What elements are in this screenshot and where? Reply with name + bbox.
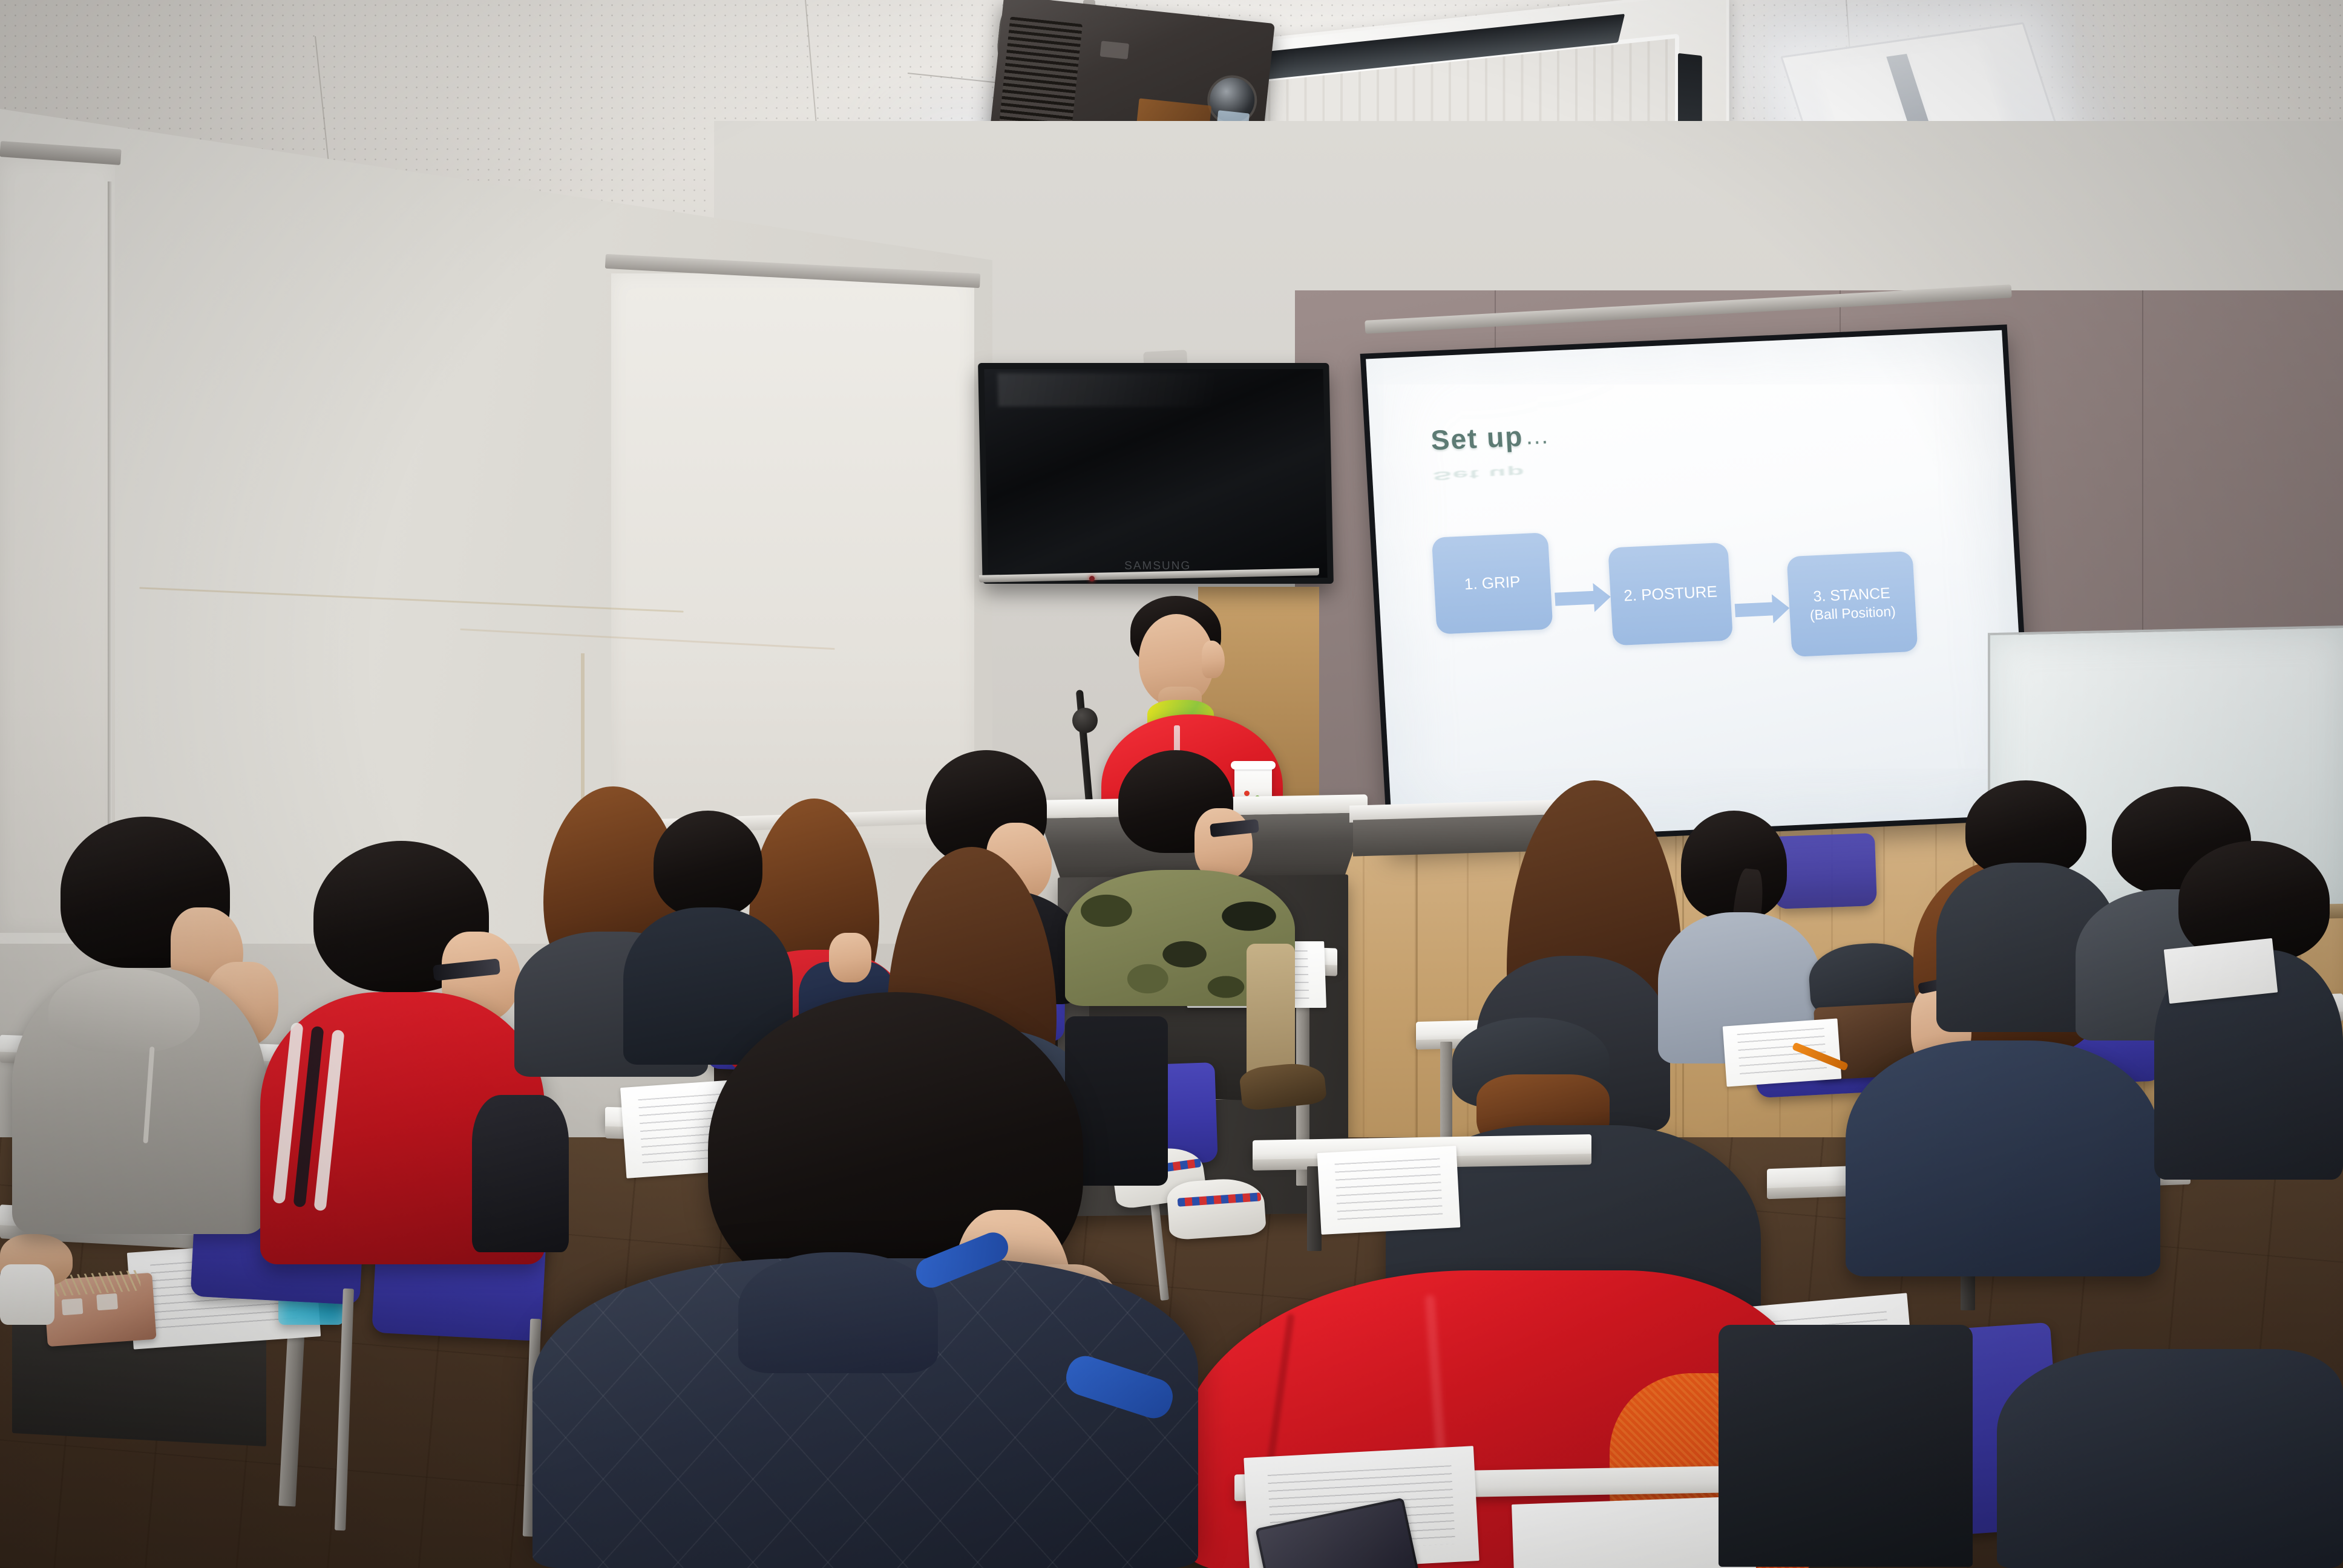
- slide-flow-box-3: 3. STANCE (Ball Position): [1786, 551, 1918, 657]
- handout[interactable]: [1317, 1146, 1461, 1235]
- jacket-collar: [738, 1252, 938, 1373]
- slide-flow-box-2: 2. POSTURE: [1608, 543, 1733, 646]
- projection-screen-surface: Set up … Set up 1. GRIP 2. POSTURE 3. ST…: [1366, 330, 2029, 843]
- tv-power-led: [1089, 576, 1095, 581]
- microphone[interactable]: [1072, 708, 1098, 733]
- student-far-right-2: [2154, 841, 2343, 1180]
- blind-edge: [108, 181, 112, 895]
- notebook[interactable]: [1723, 1018, 1842, 1086]
- slide-flow-box-1-label: 1. GRIP: [1464, 572, 1521, 595]
- paper[interactable]: [2164, 938, 2278, 1004]
- tv-screen: [984, 369, 1327, 578]
- slide-title: Set up: [1430, 420, 1524, 457]
- slide-flow-arrow-1: [1555, 591, 1595, 606]
- student-hair: [654, 811, 762, 916]
- projector-vent: [998, 16, 1083, 139]
- classroom-photo: hauzen Set u: [0, 0, 2343, 1568]
- student-gray-hoodie: [12, 817, 284, 1228]
- tv-glare: [998, 373, 1310, 407]
- student-sleeve: [0, 1264, 54, 1325]
- projection-screen: Set up … Set up 1. GRIP 2. POSTURE 3. ST…: [1360, 324, 2035, 849]
- student-hood: [48, 968, 200, 1053]
- student-foreground-right: [1997, 1349, 2343, 1568]
- student-face: [1194, 808, 1253, 880]
- slide-flow-box-2-label: 2. POSTURE: [1623, 582, 1717, 606]
- student-torso: [1846, 1040, 2160, 1276]
- wall-mark: [581, 653, 585, 805]
- presenter-face-profile: [1202, 641, 1225, 678]
- slide-flow-box-3-sublabel: (Ball Position): [1809, 603, 1896, 624]
- slide-title-ellipsis: …: [1524, 422, 1551, 451]
- slide-title-reflection: Set up: [1432, 465, 1525, 484]
- slide-flow-arrow-2: [1735, 602, 1774, 617]
- slide-flow-box-1: 1. GRIP: [1432, 532, 1553, 634]
- leg: [1247, 944, 1295, 1083]
- student-foreground-quilted: [532, 992, 1247, 1568]
- television[interactable]: SAMSUNG: [978, 363, 1334, 584]
- chair-cushion: [1719, 1325, 1973, 1567]
- pencil-pouch[interactable]: [43, 1273, 156, 1347]
- projector-port: [1100, 41, 1129, 59]
